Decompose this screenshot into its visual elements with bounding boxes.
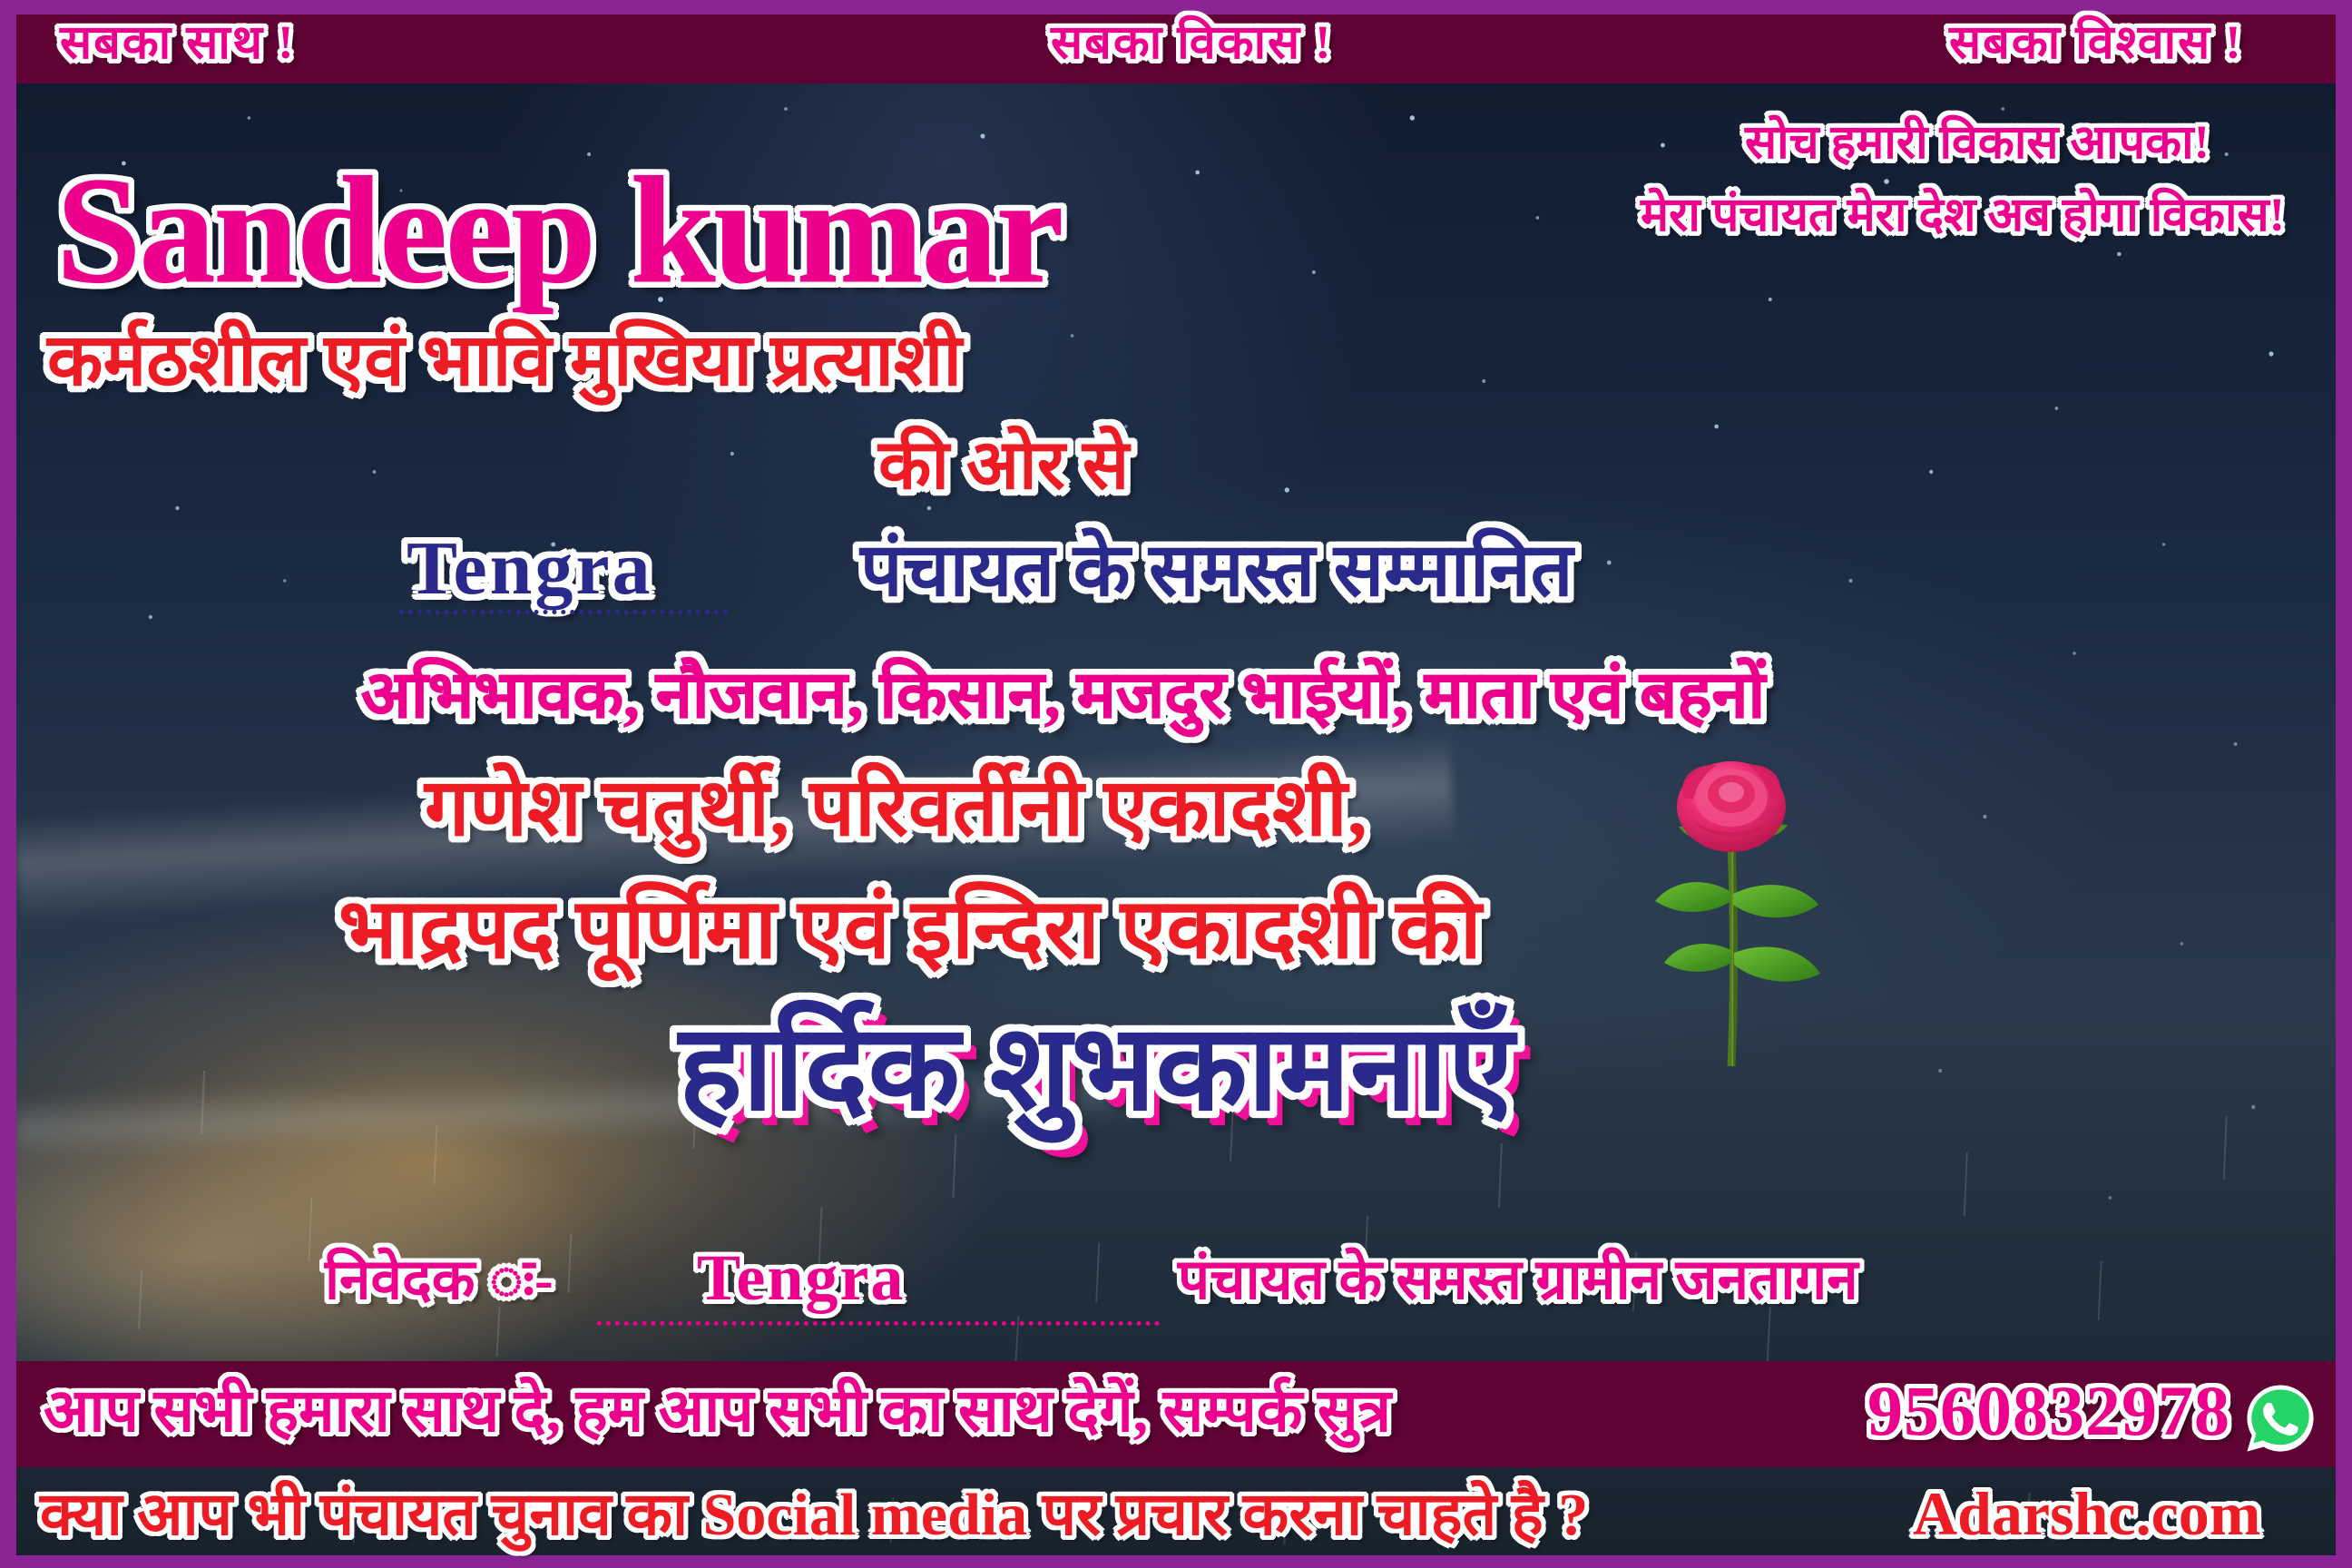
top-purple-border [16, 0, 2336, 15]
candidate-name: Sandeep kumar [56, 154, 1062, 307]
signature-from-whom: पंचायत के समस्त ग्रामीन जनतागन [1178, 1252, 1858, 1308]
panchayat-name-underline [399, 610, 728, 614]
promo-text: क्या आप भी पंचायत चुनाव का Social media … [40, 1485, 1588, 1545]
requester-label: निवेदक ः- [325, 1252, 554, 1308]
candidate-designation: कर्मठशील एवं भावि मुखिया प्रत्याशी [47, 325, 962, 397]
candidate-from-label: की ओर से [878, 431, 1129, 500]
signature-panchayat-underline [597, 1321, 1160, 1326]
rose-decoration [1641, 758, 1831, 1084]
addressed-line-2: अभिभावक, नौजवान, किसान, मजदुर भाईयों, मा… [361, 662, 1765, 728]
poster-root: सबका साथ ! सबका विकास ! सबका विश्वास ! स… [0, 0, 2352, 1568]
greeting-wish: हार्दिक शुभकामनाएँ [679, 1009, 1514, 1129]
festival-line-2: भाद्रपद पूर्णिमा एवं इन्दिरा एकादशी की [338, 887, 1482, 971]
festival-line-1: गणेश चतुर्थी, परिवर्तीनी एकादशी, [425, 769, 1367, 849]
whatsapp-icon[interactable] [2245, 1383, 2316, 1454]
signature-panchayat-field[interactable]: Tengra [697, 1245, 905, 1310]
contact-phone-number[interactable]: 9560832978 [1867, 1376, 2230, 1446]
appeal-text: आप सभी हमारा साथ दे, हम आप सभी का साथ दे… [44, 1382, 1391, 1442]
top-right-slogan-line2: मेरा पंचायत मेरा देश अब होगा विकास! [1641, 192, 2285, 240]
addressed-line-1: पंचायत के समस्त सम्मानित [860, 534, 1573, 608]
top-right-slogan-line1: सोच हमारी विकास आपका! [1745, 120, 2210, 167]
slogan-sabka-vikas: सबका विकास ! [1051, 20, 1333, 67]
slogan-sabka-vishwas: सबका विश्वास ! [1949, 20, 2243, 67]
website-link[interactable]: Adarshc.com [1913, 1483, 2260, 1544]
slogan-sabka-saath: सबका साथ ! [60, 20, 295, 67]
bottom-purple-border [16, 1555, 2336, 1568]
panchayat-name-field[interactable]: Tengra [407, 531, 653, 607]
